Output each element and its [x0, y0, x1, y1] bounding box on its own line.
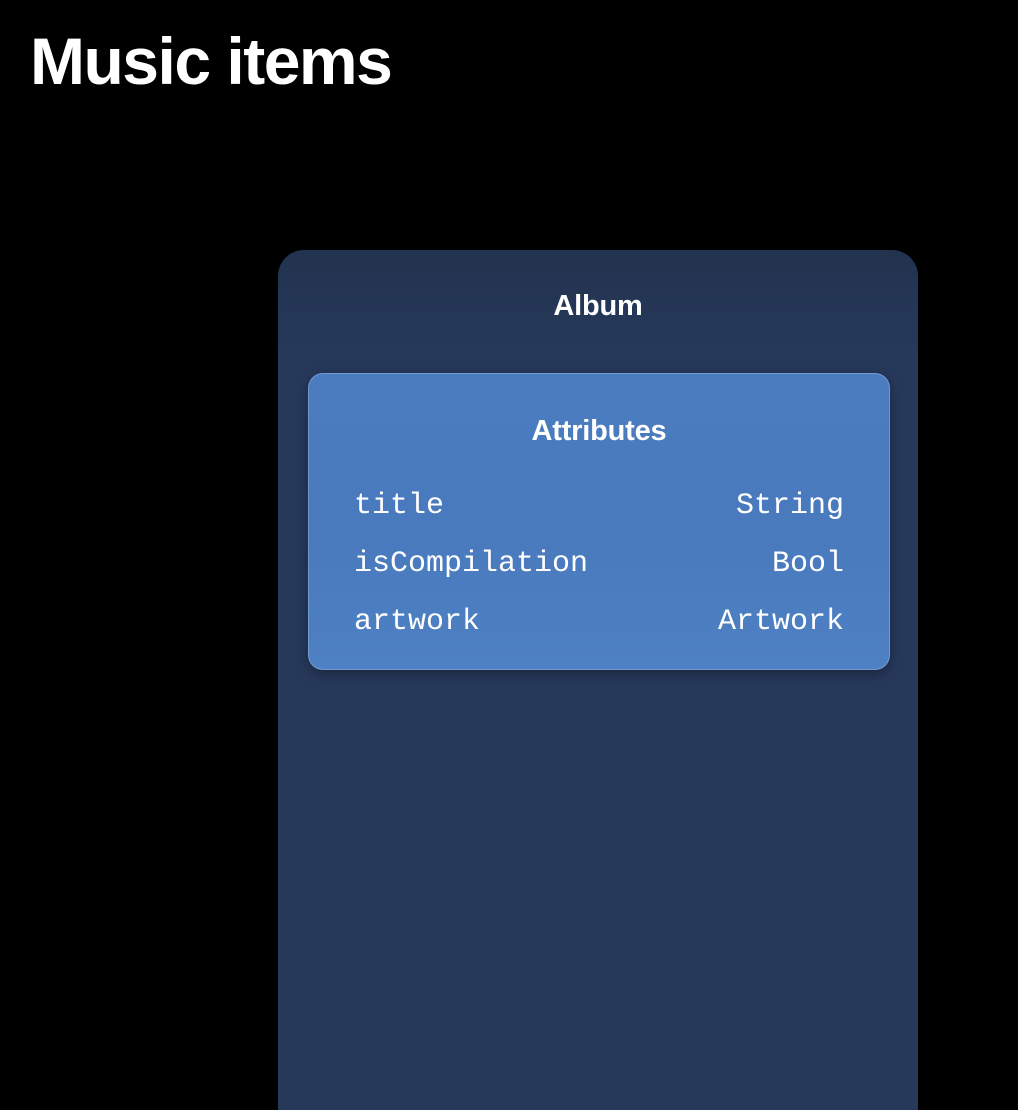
attribute-row: title String	[354, 477, 844, 535]
attribute-name: title	[354, 477, 444, 535]
entity-card-title: Album	[278, 292, 918, 321]
attribute-type: Bool	[772, 535, 844, 593]
entity-card-album: Album Attributes title String isCompilat…	[278, 250, 918, 1110]
attributes-panel-heading: Attributes	[309, 417, 889, 446]
attribute-type: Artwork	[718, 593, 844, 651]
attribute-type: String	[736, 477, 844, 535]
attribute-row: artwork Artwork	[354, 593, 844, 651]
attribute-name: isCompilation	[354, 535, 588, 593]
attributes-list: title String isCompilation Bool artwork …	[354, 477, 844, 651]
attribute-row: isCompilation Bool	[354, 535, 844, 593]
attribute-name: artwork	[354, 593, 480, 651]
attributes-panel: Attributes title String isCompilation Bo…	[308, 373, 890, 670]
page-title: Music items	[30, 28, 391, 94]
